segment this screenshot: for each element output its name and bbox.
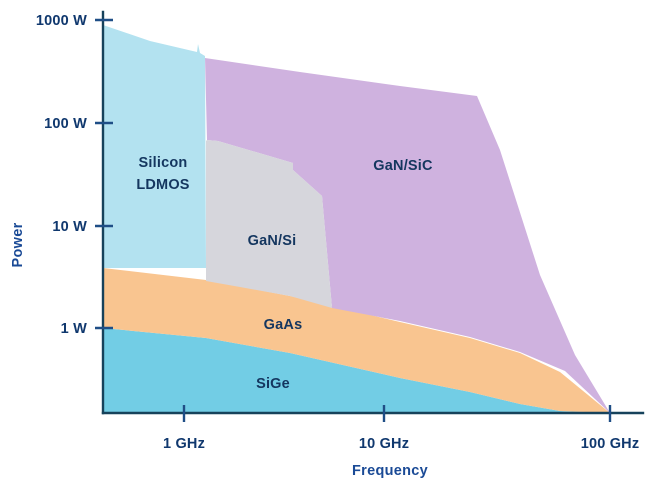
x-tick-label-10ghz: 10 GHz	[359, 436, 409, 452]
region-label-silicon-ldmos-line1: Silicon	[139, 155, 188, 171]
region-areas	[103, 25, 610, 413]
power-vs-frequency-chart: 1000 W 100 W 10 W 1 W 1 GHz 10 GHz 100 G…	[0, 0, 650, 485]
region-label-sige: SiGe	[256, 376, 290, 392]
x-axis-title: Frequency	[352, 463, 428, 479]
chart-canvas: 1000 W 100 W 10 W 1 W 1 GHz 10 GHz 100 G…	[0, 0, 650, 485]
y-tick-label-10w: 10 W	[52, 219, 87, 235]
region-label-gan-sic: GaN/SiC	[373, 158, 433, 174]
region-label-gan-si: GaN/Si	[248, 233, 297, 249]
y-axis-ticks: 1000 W 100 W 10 W 1 W	[36, 13, 113, 337]
region-label-gaas: GaAs	[264, 317, 303, 333]
y-tick-label-1000w: 1000 W	[36, 13, 87, 29]
region-label-silicon-ldmos-line2: LDMOS	[136, 177, 189, 193]
y-tick-label-1w: 1 W	[61, 321, 87, 337]
y-axis-title: Power	[10, 222, 26, 267]
region-area-silicon-ldmos	[103, 25, 206, 268]
y-tick-label-100w: 100 W	[44, 116, 87, 132]
x-tick-label-100ghz: 100 GHz	[581, 436, 640, 452]
x-tick-label-1ghz: 1 GHz	[163, 436, 205, 452]
